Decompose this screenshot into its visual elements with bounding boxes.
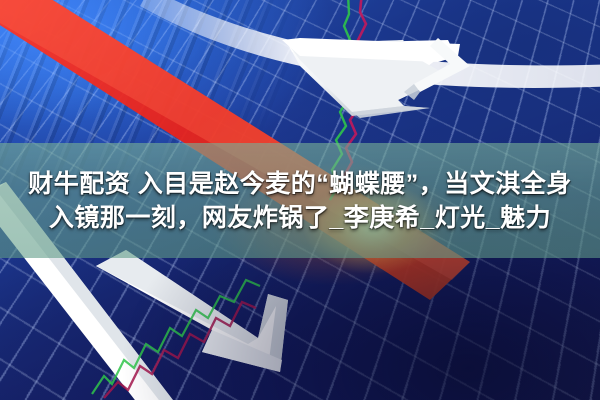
headline-overlay-band: 财牛配资 入目是赵今麦的“蝴蝶腰”，当文淇全身 入镜那一刻，网友炸锅了_李庚希_… xyxy=(0,143,600,258)
headline-line-2: 入镜那一刻，网友炸锅了_李庚希_灯光_魅力 xyxy=(49,202,551,234)
headline-line-1: 财牛配资 入目是赵今麦的“蝴蝶腰”，当文淇全身 xyxy=(28,168,571,200)
banner-image: 财牛配资 入目是赵今麦的“蝴蝶腰”，当文淇全身 入镜那一刻，网友炸锅了_李庚希_… xyxy=(0,0,600,400)
